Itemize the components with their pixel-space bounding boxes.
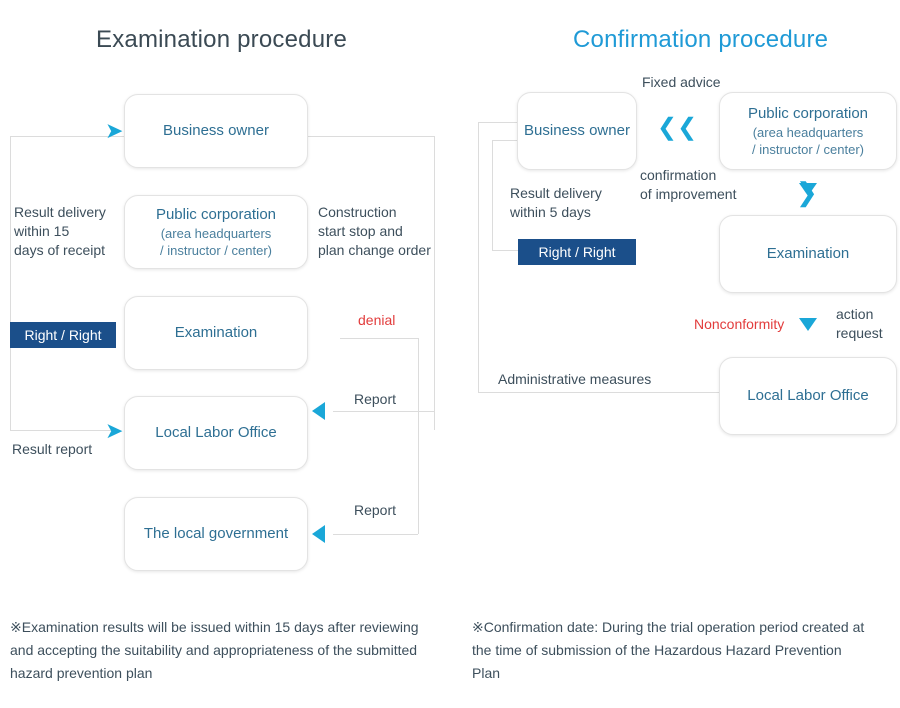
label-construction-order: Constructionstart stop andplan change or… (318, 203, 434, 260)
right-footnote-text: ※Confirmation date: During the trial ope… (472, 619, 864, 681)
right-inner-bottom-line (492, 250, 518, 251)
left-frame-right-line (434, 136, 435, 430)
right-frame-bottom-line (478, 392, 720, 393)
node-public-corporation-left[interactable]: Public corporation (area headquarters/ i… (124, 195, 308, 269)
node-local-government-left[interactable]: The local government (124, 497, 308, 571)
node-examination-right[interactable]: Examination (719, 215, 897, 293)
node-examination-left[interactable]: Examination (124, 296, 308, 370)
node-label: Public corporation (156, 205, 276, 225)
right-footnote: ※Confirmation date: During the trial ope… (472, 616, 872, 685)
node-local-labor-office-left[interactable]: Local Labor Office (124, 396, 308, 470)
node-sublabel: (area headquarters/ instructor / center) (160, 225, 272, 259)
arrow-report-to-local-government (312, 525, 325, 543)
right-panel-title: Confirmation procedure (573, 26, 828, 54)
label-confirmation-of-improvement: confirmationof improvement (640, 166, 770, 204)
right-inner-top-line (492, 140, 518, 141)
arrow-report-to-local-labor-office (312, 402, 325, 420)
node-label: Business owner (163, 121, 269, 141)
arrow-down-to-examination (799, 183, 817, 196)
right-inner-left-line (492, 140, 493, 250)
arrow-down-to-local-labor-office (799, 318, 817, 331)
left-footnote: ※Examination results will be issued with… (10, 616, 440, 685)
node-business-owner-right[interactable]: Business owner (517, 92, 637, 170)
node-local-labor-office-right[interactable]: Local Labor Office (719, 357, 897, 435)
node-label: Local Labor Office (747, 386, 868, 406)
right-frame-left-line (478, 122, 479, 392)
left-footnote-text: ※Examination results will be issued with… (10, 619, 419, 681)
left-panel-title: Examination procedure (96, 26, 347, 54)
left-frame-left-line (10, 136, 11, 430)
node-label: Examination (175, 323, 258, 343)
label-result-delivery-right: Result deliverywithin 5 days (510, 184, 630, 222)
arrow-fixed-advice-left: ❮❮ (657, 117, 697, 139)
node-label: Examination (767, 244, 850, 264)
label-administrative-measures: Administrative measures (498, 370, 651, 389)
node-public-corporation-right[interactable]: Public corporation (area headquarters/ i… (719, 92, 897, 170)
node-label: Business owner (524, 121, 630, 141)
right-frame-top-line (478, 122, 518, 123)
node-business-owner-left[interactable]: Business owner (124, 94, 308, 168)
label-action-request: actionrequest (836, 305, 900, 343)
node-sublabel: (area headquarters/ instructor / center) (752, 124, 864, 158)
label-nonconformity: Nonconformity (694, 315, 784, 334)
badge-right-right-right: Right / Right (518, 239, 636, 265)
badge-right-right-left: Right / Right (10, 322, 116, 348)
arrow-to-local-labor-office-left: ➤ (105, 420, 123, 442)
label-fixed-advice: Fixed advice (642, 73, 721, 92)
left-report2-line (418, 411, 419, 534)
label-result-delivery-left: Result deliverywithin 15days of receipt (14, 203, 124, 260)
left-report2-bottom-line (333, 534, 418, 535)
label-result-report: Result report (12, 440, 92, 459)
arrow-to-business-owner-left: ➤ (105, 120, 123, 142)
node-label: Local Labor Office (155, 423, 276, 443)
node-label: Public corporation (748, 104, 868, 124)
node-label: The local government (144, 524, 288, 544)
diagram-root: Examination procedure Business owner Pub… (0, 0, 900, 708)
left-denial-top-line (340, 338, 418, 339)
label-report-2: Report (354, 501, 396, 520)
left-frame-bottom-line (10, 430, 120, 431)
label-report-1: Report (354, 390, 396, 409)
label-denial: denial (358, 311, 395, 330)
